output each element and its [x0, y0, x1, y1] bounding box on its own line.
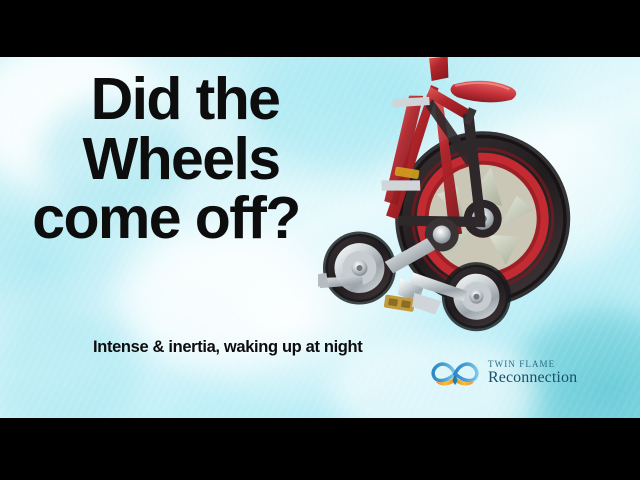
brand-logo: TWIN FLAME Reconnection	[428, 357, 577, 389]
thumbnail-stage: Did the Wheels come off? Intense & inert…	[0, 0, 640, 480]
title-block: Did the Wheels come off?	[0, 71, 360, 247]
infinity-flame-icon	[428, 357, 482, 389]
letterbox-bar-bottom	[0, 418, 640, 480]
brand-name-top: TWIN FLAME	[488, 360, 577, 369]
title-line-1: Did the	[0, 71, 360, 128]
title-line-3: come off?	[0, 190, 360, 247]
letterbox-bar-top	[0, 0, 640, 57]
thumbnail-canvas: Did the Wheels come off? Intense & inert…	[0, 57, 640, 418]
brand-name-main: Reconnection	[488, 370, 577, 386]
brand-text: TWIN FLAME Reconnection	[488, 360, 577, 386]
title-line-2: Wheels	[0, 131, 360, 188]
subtitle-text: Intense & inertia, waking up at night	[93, 338, 362, 357]
